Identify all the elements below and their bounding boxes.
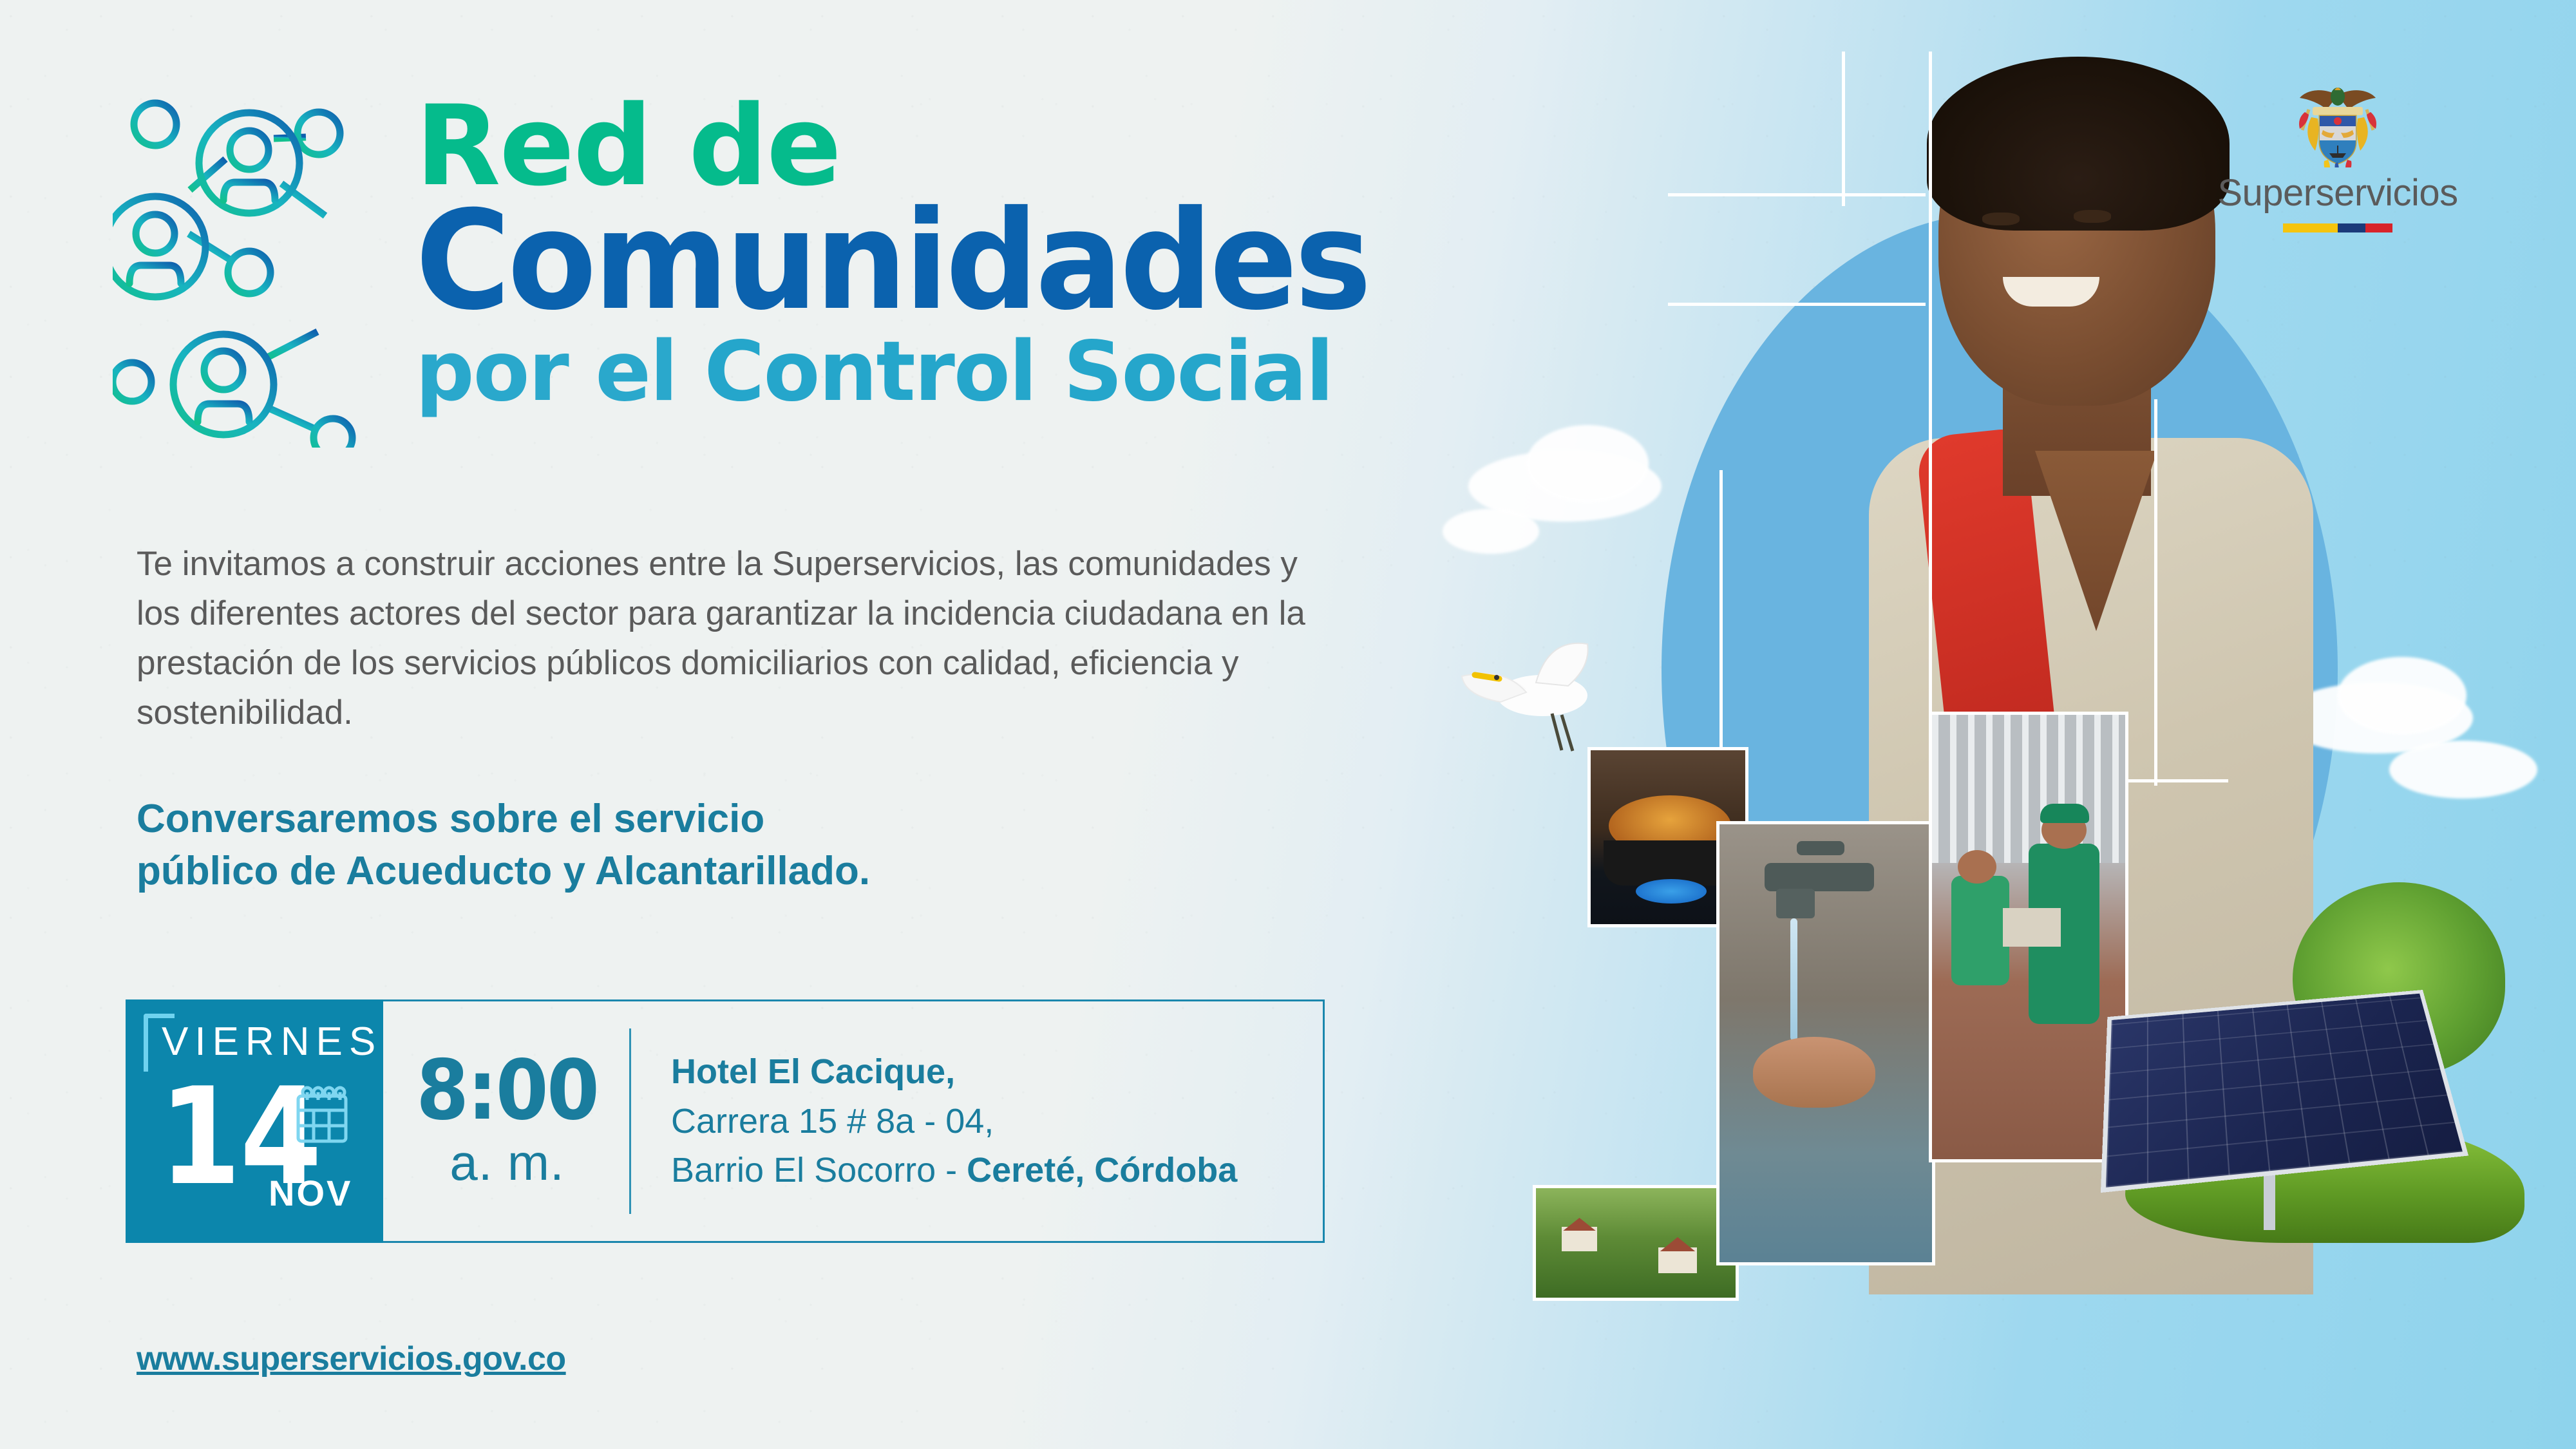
tile-rural-landscape bbox=[1533, 1185, 1739, 1301]
event-date-box: VIERNES 14 NOV bbox=[126, 999, 383, 1243]
guide-line bbox=[1929, 52, 1932, 779]
tile-waste-collection bbox=[1929, 712, 2128, 1162]
event-weekday: VIERNES bbox=[162, 1019, 382, 1065]
event-time-box: 8:00 a. m. bbox=[383, 1001, 631, 1241]
cloud-icon bbox=[1526, 425, 1649, 502]
page-title: Red de Comunidades por el Control Social bbox=[415, 95, 1459, 412]
venue-address: Carrera 15 # 8a - 04, bbox=[671, 1097, 1323, 1146]
eye-right bbox=[2074, 210, 2111, 223]
guide-line bbox=[1668, 303, 1926, 306]
guide-line bbox=[1842, 52, 1845, 206]
community-network-icon bbox=[113, 87, 402, 448]
smile bbox=[2003, 277, 2099, 307]
event-meridiem: a. m. bbox=[450, 1135, 564, 1191]
venue-neighborhood: Barrio El Socorro - bbox=[671, 1151, 967, 1189]
colombia-flag-bar bbox=[2283, 223, 2392, 232]
event-time: 8:00 bbox=[417, 1052, 598, 1130]
event-details-panel: VIERNES 14 NOV bbox=[126, 999, 1325, 1243]
calendar-icon bbox=[294, 1083, 350, 1148]
intro-paragraph: Te invitamos a construir acciones entre … bbox=[137, 540, 1347, 737]
venue-city: Cereté, Córdoba bbox=[967, 1151, 1237, 1189]
subheading-line-2: público de Acueducto y Alcantarillado. bbox=[137, 846, 1231, 898]
title-line-3: por el Control Social bbox=[415, 332, 1459, 412]
guide-line bbox=[1668, 193, 1926, 196]
cloud-icon bbox=[2338, 657, 2467, 734]
flag-blue bbox=[2338, 223, 2365, 232]
subheading-line-1: Conversaremos sobre el servicio bbox=[137, 793, 1231, 846]
venue-name: Hotel El Cacique, bbox=[671, 1047, 1323, 1097]
eye-left bbox=[1982, 213, 2020, 225]
guide-line bbox=[2154, 399, 2157, 786]
subheading: Conversaremos sobre el servicio público … bbox=[137, 793, 1231, 897]
website-link[interactable]: www.superservicios.gov.co bbox=[137, 1340, 566, 1378]
poster-canvas: Red de Comunidades por el Control Social… bbox=[0, 0, 2576, 1449]
flag-yellow bbox=[2283, 223, 2338, 232]
cloud-icon bbox=[2389, 741, 2537, 799]
content-column: Red de Comunidades por el Control Social… bbox=[0, 0, 1481, 1449]
colombia-coat-of-arms-icon bbox=[2289, 84, 2386, 167]
venue-locality: Barrio El Socorro - Cereté, Córdoba bbox=[671, 1146, 1323, 1195]
event-venue-box: Hotel El Cacique, Carrera 15 # 8a - 04, … bbox=[631, 1001, 1323, 1241]
superservicios-logo: Superservicios bbox=[2183, 84, 2492, 232]
flag-red bbox=[2365, 223, 2393, 232]
title-line-2: Comunidades bbox=[415, 200, 1406, 323]
logo-entity-name: Superservicios bbox=[2183, 171, 2492, 214]
tile-water-tap bbox=[1716, 821, 1935, 1265]
event-month: NOV bbox=[269, 1172, 352, 1214]
